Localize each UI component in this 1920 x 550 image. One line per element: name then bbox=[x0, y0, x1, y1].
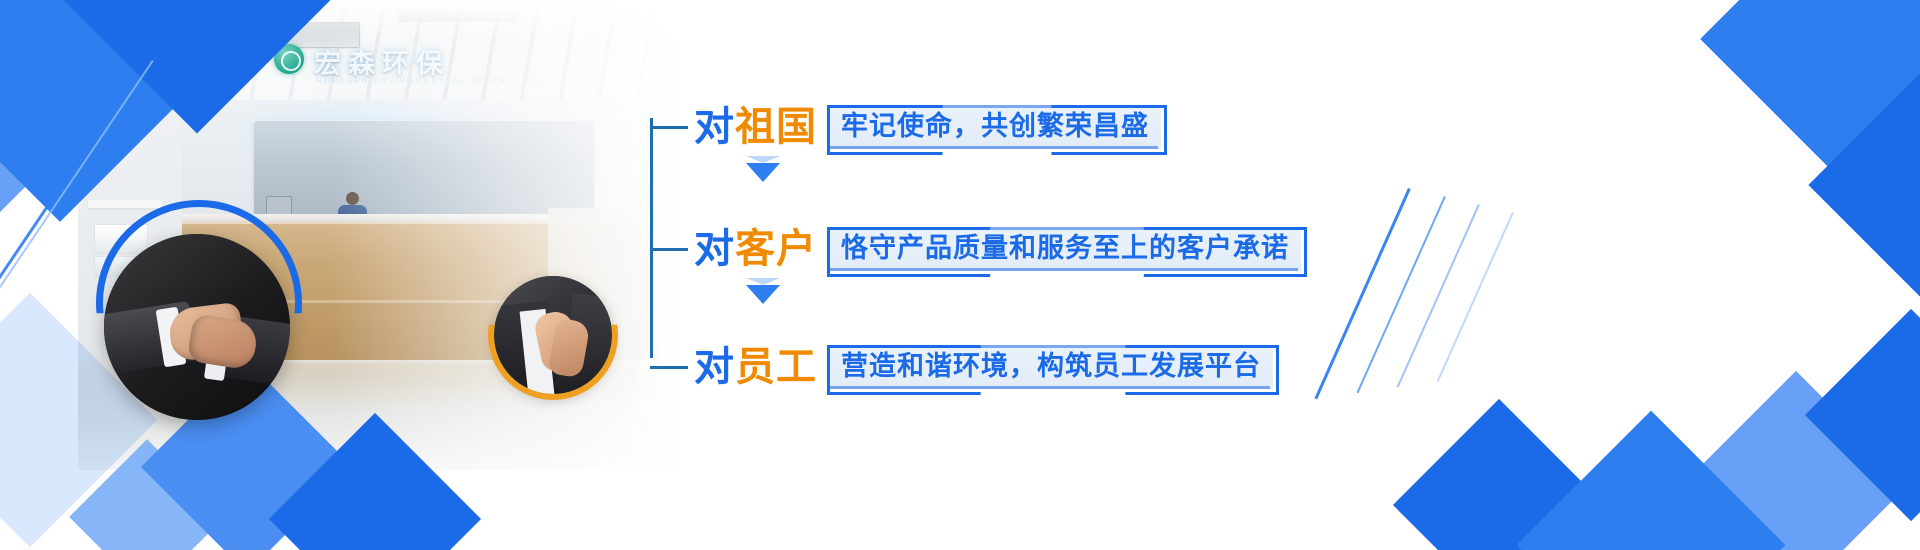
value-pill-text: 牢记使命，共创繁荣昌盛 bbox=[841, 111, 1149, 142]
value-row-employee[interactable]: 对员工 营造和谐环境，构筑员工发展平台 bbox=[650, 336, 1273, 398]
elbow-connector-icon bbox=[650, 248, 688, 251]
value-title-employee: 对员工 bbox=[688, 347, 817, 387]
value-title-customer: 对客户 bbox=[688, 229, 817, 269]
chevron-down-icon bbox=[746, 278, 780, 304]
monitor bbox=[266, 196, 292, 216]
decor-line bbox=[1397, 204, 1480, 388]
values-list: 对祖国 牢记使命，共创繁荣昌盛 对客户 恪守产品质量和服务至上的客户承诺 bbox=[650, 60, 1370, 420]
pill-top-line bbox=[830, 345, 1270, 348]
elbow-connector-icon bbox=[650, 126, 688, 129]
value-title-keyword: 客户 bbox=[735, 226, 817, 272]
shelf bbox=[88, 200, 162, 208]
chevron-down-icon bbox=[746, 156, 780, 182]
value-row-country[interactable]: 对祖国 牢记使命，共创繁荣昌盛 bbox=[650, 96, 1161, 158]
value-pill-text: 恪守产品质量和服务至上的客户承诺 bbox=[841, 233, 1289, 264]
value-title-country: 对祖国 bbox=[688, 107, 817, 147]
value-pill-employee[interactable]: 营造和谐环境，构筑员工发展平台 bbox=[827, 345, 1273, 389]
pill-bottom-line bbox=[830, 146, 1158, 149]
value-pill-text: 营造和谐环境，构筑员工发展平台 bbox=[841, 351, 1261, 382]
value-title-keyword: 员工 bbox=[735, 344, 817, 390]
value-row-customer[interactable]: 对客户 恪守产品质量和服务至上的客户承诺 bbox=[650, 218, 1301, 280]
pill-bottom-line bbox=[830, 386, 1270, 389]
value-pill-country[interactable]: 牢记使命，共创繁荣昌盛 bbox=[827, 105, 1161, 149]
company-values-banner: 宏森环保 HONGSEN ENVIRONMENTAL PROTECTION bbox=[0, 0, 1920, 550]
value-title-prefix: 对 bbox=[694, 104, 735, 150]
pill-bottom-line bbox=[830, 268, 1298, 271]
value-pill-customer[interactable]: 恪守产品质量和服务至上的客户承诺 bbox=[827, 227, 1301, 271]
decor-line bbox=[1437, 212, 1514, 382]
value-title-keyword: 祖国 bbox=[735, 104, 817, 150]
pill-top-line bbox=[830, 105, 1158, 108]
elbow-connector-icon bbox=[650, 366, 688, 369]
pill-top-line bbox=[830, 227, 1298, 230]
value-title-prefix: 对 bbox=[694, 344, 735, 390]
value-title-prefix: 对 bbox=[694, 226, 735, 272]
